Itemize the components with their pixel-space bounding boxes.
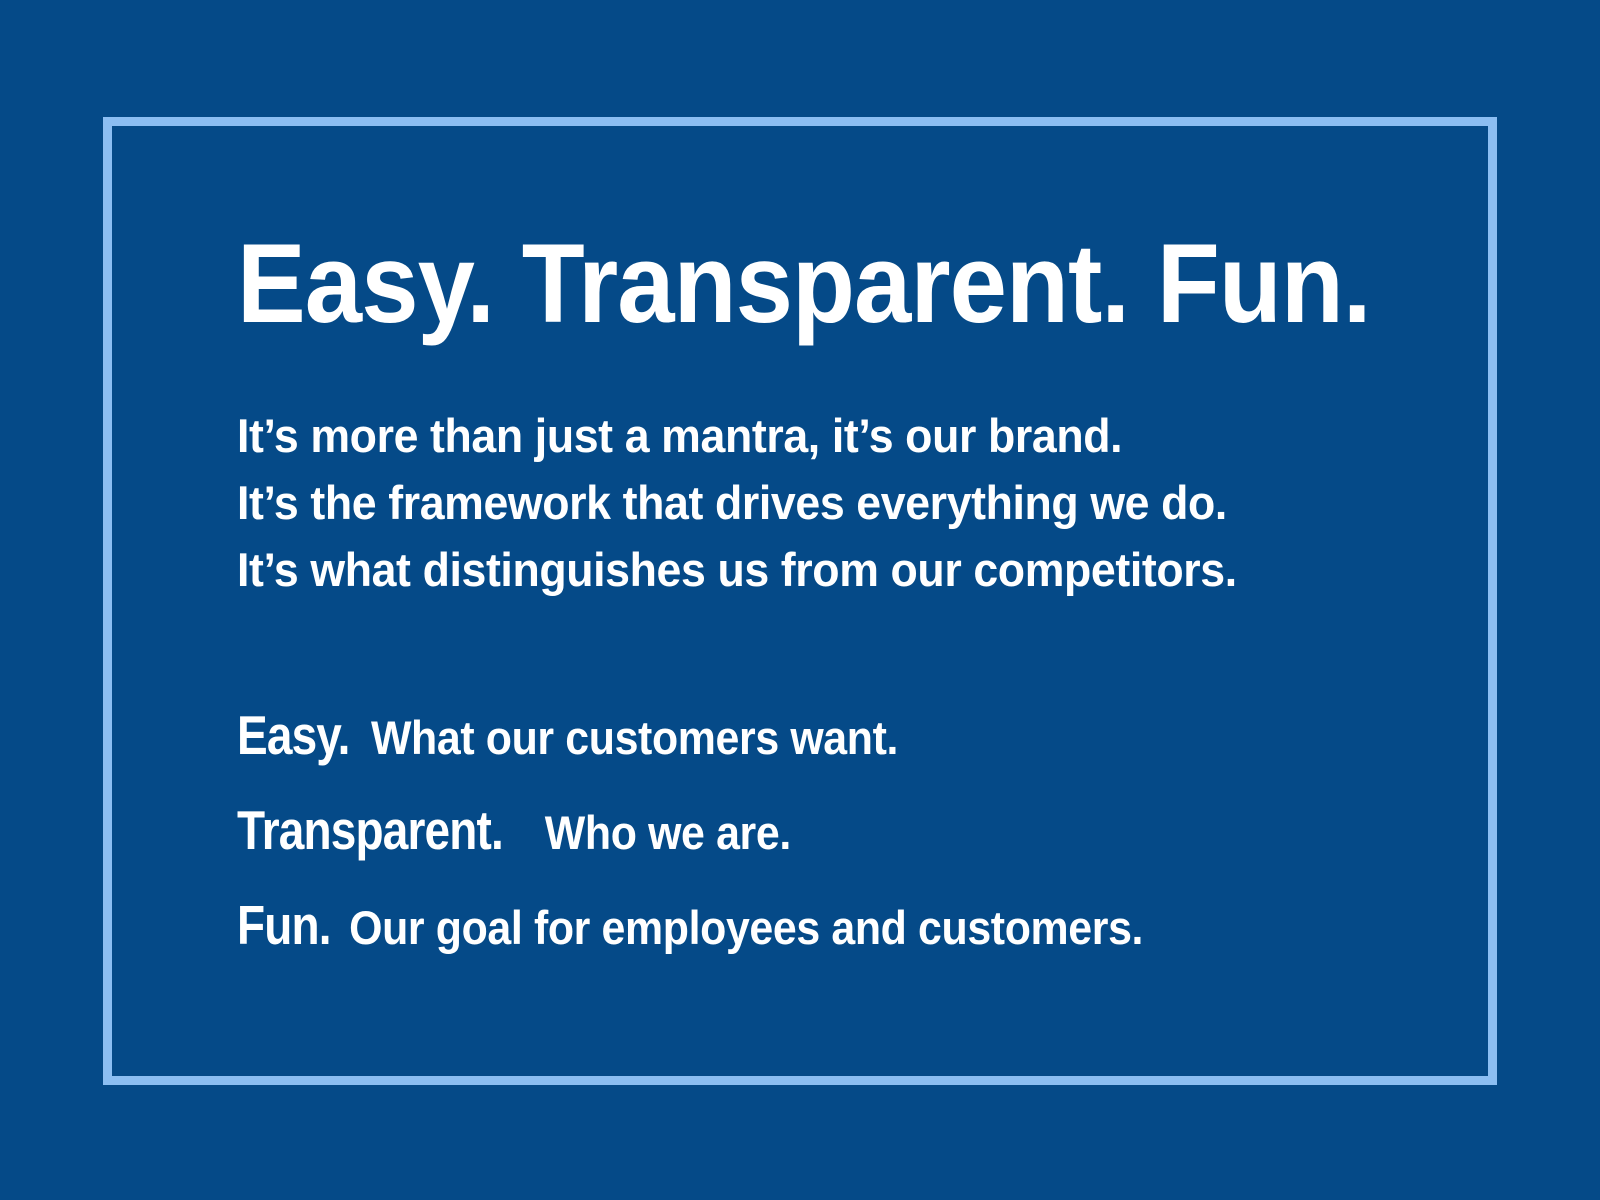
pillar-item-easy: Easy.What our customers want. bbox=[237, 695, 1396, 790]
page-title: Easy. Transparent. Fun. bbox=[237, 228, 1359, 340]
pillar-item-fun: Fun.Our goal for employees and customers… bbox=[237, 885, 1396, 980]
pillars-list: Easy.What our customers want. Transparen… bbox=[237, 695, 1457, 980]
pillar-item-transparent: Transparent.Who we are. bbox=[237, 790, 1396, 885]
intro-line-1: It’s more than just a mantra, it’s our b… bbox=[237, 402, 1396, 469]
slide-content: Easy. Transparent. Fun. It’s more than j… bbox=[237, 228, 1457, 980]
pillar-description-transparent: Who we are. bbox=[545, 793, 791, 873]
intro-line-3: It’s what distinguishes us from our comp… bbox=[237, 536, 1396, 603]
pillar-description-easy: What our customers want. bbox=[371, 698, 898, 778]
intro-paragraph: It’s more than just a mantra, it’s our b… bbox=[237, 402, 1457, 603]
pillar-term-easy: Easy. bbox=[237, 695, 350, 775]
pillar-term-transparent: Transparent. bbox=[237, 790, 503, 870]
intro-line-2: It’s the framework that drives everythin… bbox=[237, 469, 1396, 536]
slide-canvas: Easy. Transparent. Fun. It’s more than j… bbox=[0, 0, 1600, 1200]
pillar-description-fun: Our goal for employees and customers. bbox=[349, 888, 1143, 968]
pillar-term-fun: Fun. bbox=[237, 885, 331, 965]
